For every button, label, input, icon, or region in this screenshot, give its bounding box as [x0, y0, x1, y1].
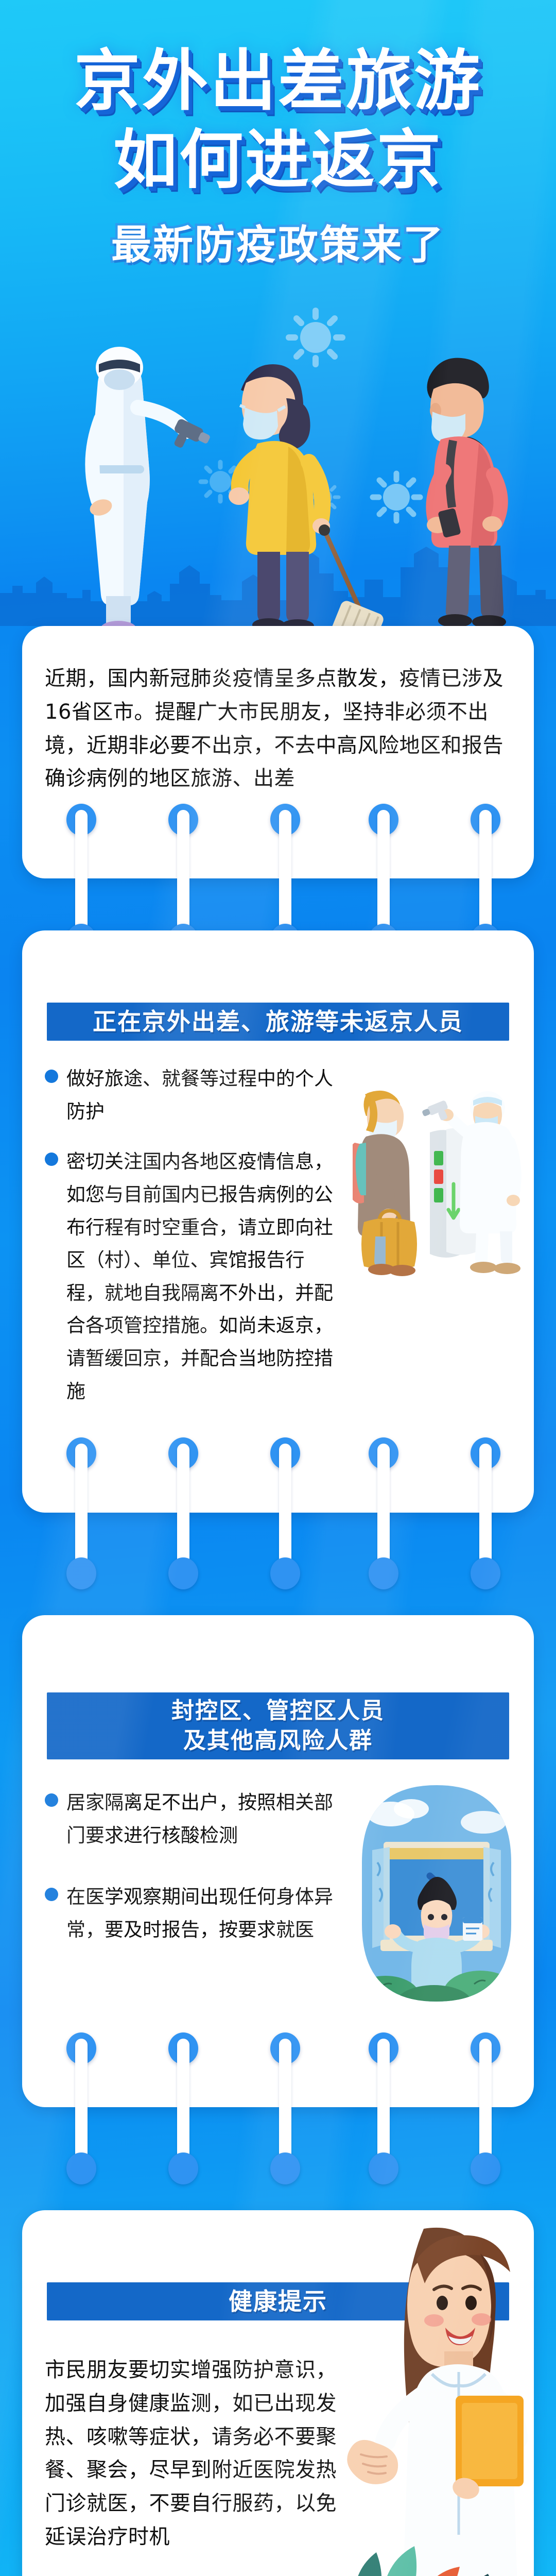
title-line-1: 京外出差旅游 — [0, 41, 556, 122]
card4-scene-doctor — [333, 2210, 529, 2576]
card2-bullet-list: 做好旅途、就餐等过程中的个人防护 密切关注国内各地区疫情信息，如您与目前国内已报… — [45, 1062, 333, 1408]
title-line-2: 如何进返京 — [0, 122, 556, 199]
card2-bullet-2: 密切关注国内各地区疫情信息，如您与目前国内已报告病例的公布行程有时空重合，请立即… — [66, 1145, 333, 1408]
infographic-poster: 京外出差旅游 如何进返京 最新防疫政策来了 — [0, 0, 556, 2576]
clipboard-icon — [456, 2396, 524, 2486]
card3-banner-line-1: 封控区、管控区人员 — [171, 1696, 385, 1726]
poster-title-block: 京外出差旅游 如何进返京 最新防疫政策来了 — [0, 41, 556, 270]
bullet-dot-icon — [45, 1793, 58, 1807]
card3-bullet-1: 居家隔离足不出户，按照相关部门要求进行核酸检测 — [66, 1786, 333, 1852]
card2-bullet-1: 做好旅途、就餐等过程中的个人防护 — [66, 1062, 333, 1128]
card2-banner: 正在京外出差、旅游等未返京人员 — [47, 1003, 509, 1041]
card3-scene-home-quarantine — [362, 1785, 511, 2002]
list-item: 做好旅途、就餐等过程中的个人防护 — [45, 1062, 333, 1128]
card3-bullet-list: 居家隔离足不出户，按照相关部门要求进行核酸检测 在医学观察期间出现任何身体异常，… — [45, 1786, 333, 1946]
card2-banner-label: 正在京外出差、旅游等未返京人员 — [93, 1006, 463, 1038]
card4-banner-label: 健康提示 — [229, 2286, 327, 2317]
bullet-dot-icon — [45, 1888, 58, 1901]
backpacker-man-figure — [427, 358, 506, 629]
card-intro: 近期，国内新冠肺炎疫情呈多点散发，疫情已涉及16省区市。提醒广大市民朋友，坚持非… — [22, 626, 534, 878]
header-illustration — [0, 301, 556, 631]
card2-scene-gate-check — [353, 1085, 523, 1281]
card-health-tips: 健康提示 市民朋友要切实增强防护意识，加强自身健康监测，如已出现发热、咳嗽等症状… — [22, 2210, 534, 2576]
card-intro-body: 近期，国内新冠肺炎疫情呈多点散发，疫情已涉及16省区市。提醒广大市民朋友，坚持非… — [45, 662, 511, 795]
card3-bullet-2: 在医学观察期间出现任何身体异常，要及时报告，按要求就医 — [66, 1880, 333, 1946]
card-away-from-beijing: 正在京外出差、旅游等未返京人员 做好旅途、就餐等过程中的个人防护 密切关注国内各… — [22, 930, 534, 1513]
hazmat-worker-figure — [88, 347, 212, 631]
list-item: 在医学观察期间出现任何身体异常，要及时报告，按要求就医 — [45, 1880, 333, 1946]
card3-banner-line-2: 及其他高风险人群 — [183, 1726, 373, 1756]
poster-subtitle: 最新防疫政策来了 — [0, 213, 556, 270]
poster-header: 京外出差旅游 如何进返京 最新防疫政策来了 — [0, 0, 556, 626]
card-controlled-areas: 封控区、管控区人员 及其他高风险人群 居家隔离足不出户，按照相关部门要求进行核酸… — [22, 1615, 534, 2107]
woman-traveler-figure — [229, 364, 385, 631]
list-item: 密切关注国内各地区疫情信息，如您与目前国内已报告病例的公布行程有时空重合，请立即… — [45, 1145, 333, 1408]
card3-banner: 封控区、管控区人员 及其他高风险人群 — [47, 1692, 509, 1759]
traveler-with-bag-figure — [353, 1091, 417, 1276]
rolling-suitcase-icon — [315, 524, 386, 631]
bullet-dot-icon — [45, 1070, 58, 1083]
card4-body: 市民朋友要切实增强防护意识，加强自身健康监测，如已出现发热、咳嗽等症状，请务必不… — [45, 2353, 343, 2554]
bullet-dot-icon — [45, 1153, 58, 1166]
list-item: 居家隔离足不出户，按照相关部门要求进行核酸检测 — [45, 1786, 333, 1852]
